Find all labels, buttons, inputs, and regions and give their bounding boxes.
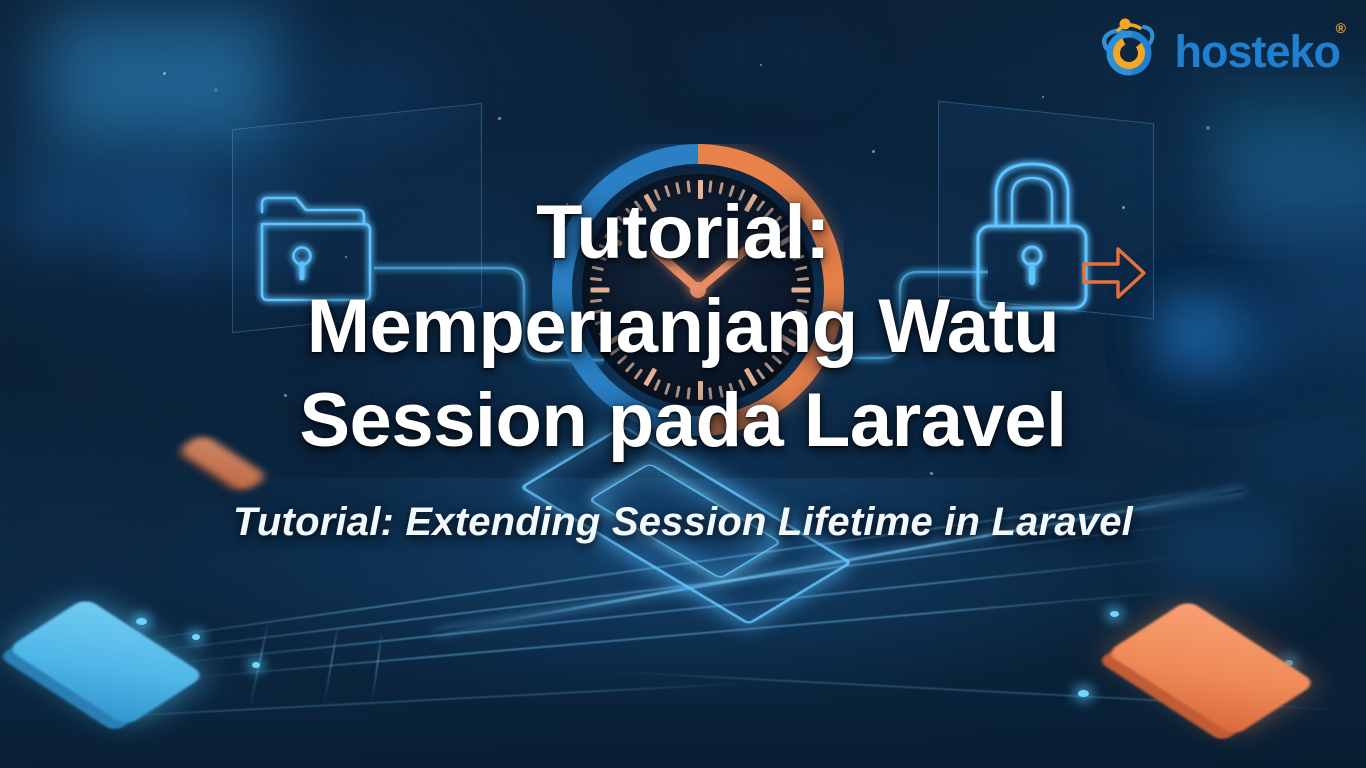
hosteko-wordmark: hosteko	[1174, 29, 1340, 74]
registered-trademark-symbol: ®	[1336, 20, 1346, 36]
particle	[498, 117, 501, 120]
page-subtitle: Tutorial: Extending Session Lifetime in …	[0, 500, 1366, 545]
page-title: Tutorial: Memperıanjang Watu Session pad…	[0, 186, 1366, 468]
banner-canvas: Tutorial: Memperıanjang Watu Session pad…	[0, 0, 1366, 768]
particle	[930, 472, 933, 475]
circuit-node	[136, 618, 147, 625]
circuit-node	[1110, 611, 1119, 617]
circuit-node	[1078, 690, 1089, 697]
hosteko-logo[interactable]: hosteko ®	[1098, 14, 1340, 82]
particle	[163, 72, 166, 75]
particle	[214, 88, 218, 92]
circuit-node	[252, 662, 260, 668]
particle	[872, 150, 875, 153]
circuit-node	[192, 634, 200, 640]
particle	[1206, 126, 1210, 130]
particle	[760, 64, 762, 66]
particle	[1042, 96, 1044, 98]
hosteko-swirl-o-logo-icon	[1098, 15, 1172, 81]
